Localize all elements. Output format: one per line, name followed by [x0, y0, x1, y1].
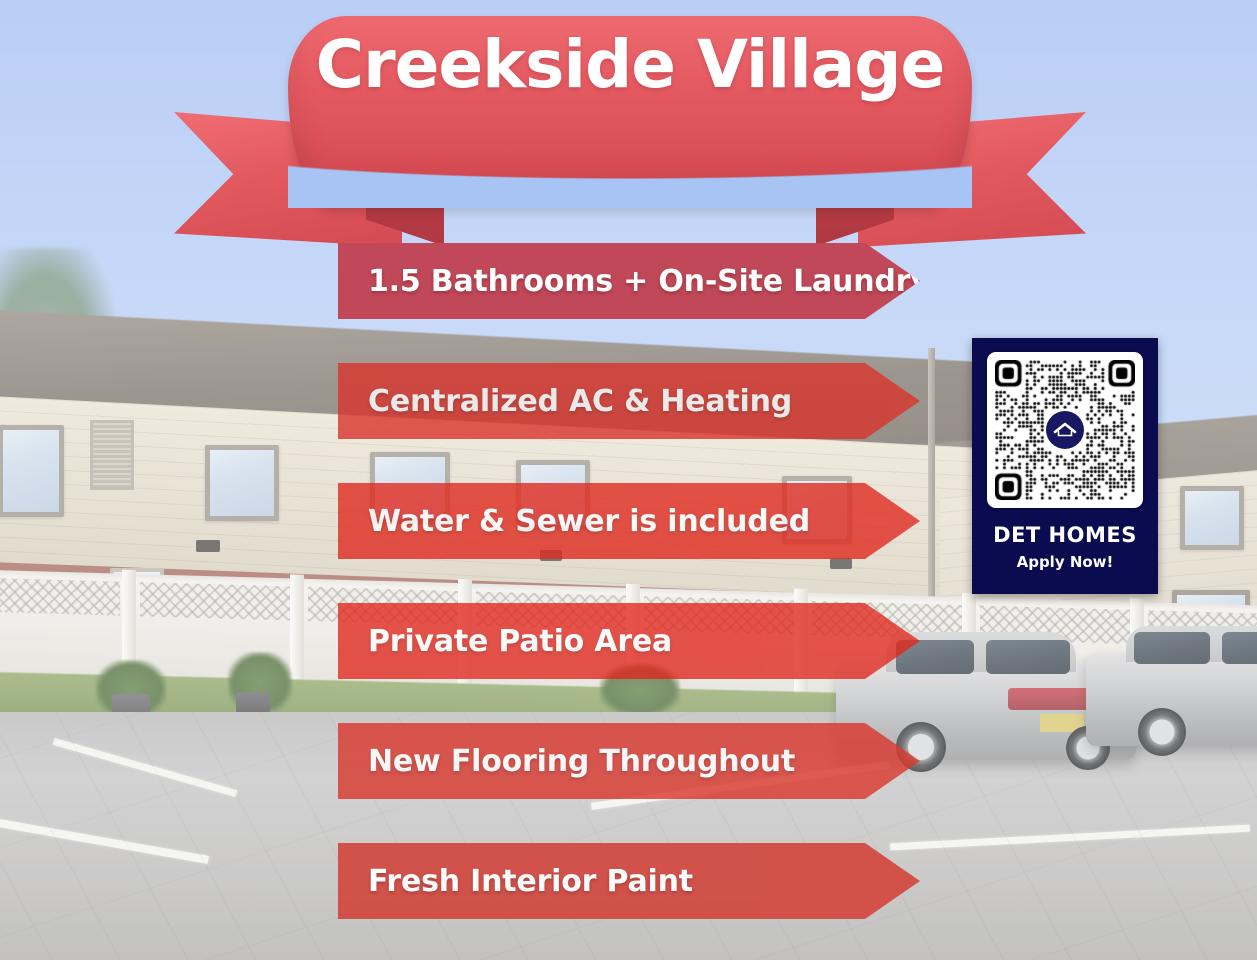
- feature-banner: Fresh Interior Paint: [338, 843, 920, 919]
- wall-light: [196, 540, 220, 552]
- feature-banner: Centralized AC & Heating: [338, 363, 920, 439]
- feature-banner-label: Centralized AC & Heating: [338, 384, 792, 419]
- parking-stripe: [53, 738, 238, 797]
- feature-banner-label: Fresh Interior Paint: [338, 864, 693, 899]
- fence-lattice: [140, 582, 290, 620]
- feature-banner-label: 1.5 Bathrooms + On-Site Laundry: [338, 264, 930, 299]
- qr-panel[interactable]: DET HOMES Apply Now!: [972, 338, 1158, 594]
- feature-banner-label: Water & Sewer is included: [338, 504, 810, 539]
- title-ribbon: Creekside Village: [170, 8, 1090, 253]
- page-title: Creekside Village: [170, 30, 1090, 99]
- qr-code[interactable]: [987, 352, 1143, 508]
- feature-banner-label: New Flooring Throughout: [338, 744, 795, 779]
- feature-banner-label: Private Patio Area: [338, 624, 672, 659]
- parking-stripe: [0, 816, 209, 864]
- attic-vent: [90, 420, 134, 490]
- feature-banner: New Flooring Throughout: [338, 723, 920, 799]
- window-upper: [1180, 486, 1244, 550]
- window-upper: [205, 445, 279, 521]
- flyer-canvas: Creekside Village 1.5 Bathrooms + On-Sit…: [0, 0, 1257, 960]
- parking-stripe: [890, 825, 1250, 851]
- feature-banner: 1.5 Bathrooms + On-Site Laundry: [338, 243, 920, 319]
- qr-cta-label: Apply Now!: [1017, 553, 1114, 571]
- qr-brand-label: DET HOMES: [993, 523, 1137, 547]
- fence-lattice: [0, 578, 120, 615]
- feature-banner: Private Patio Area: [338, 603, 920, 679]
- window-upper: [0, 425, 64, 517]
- feature-banner: Water & Sewer is included: [338, 483, 920, 559]
- house-roof-icon: [1046, 411, 1084, 449]
- wall-light: [830, 558, 852, 569]
